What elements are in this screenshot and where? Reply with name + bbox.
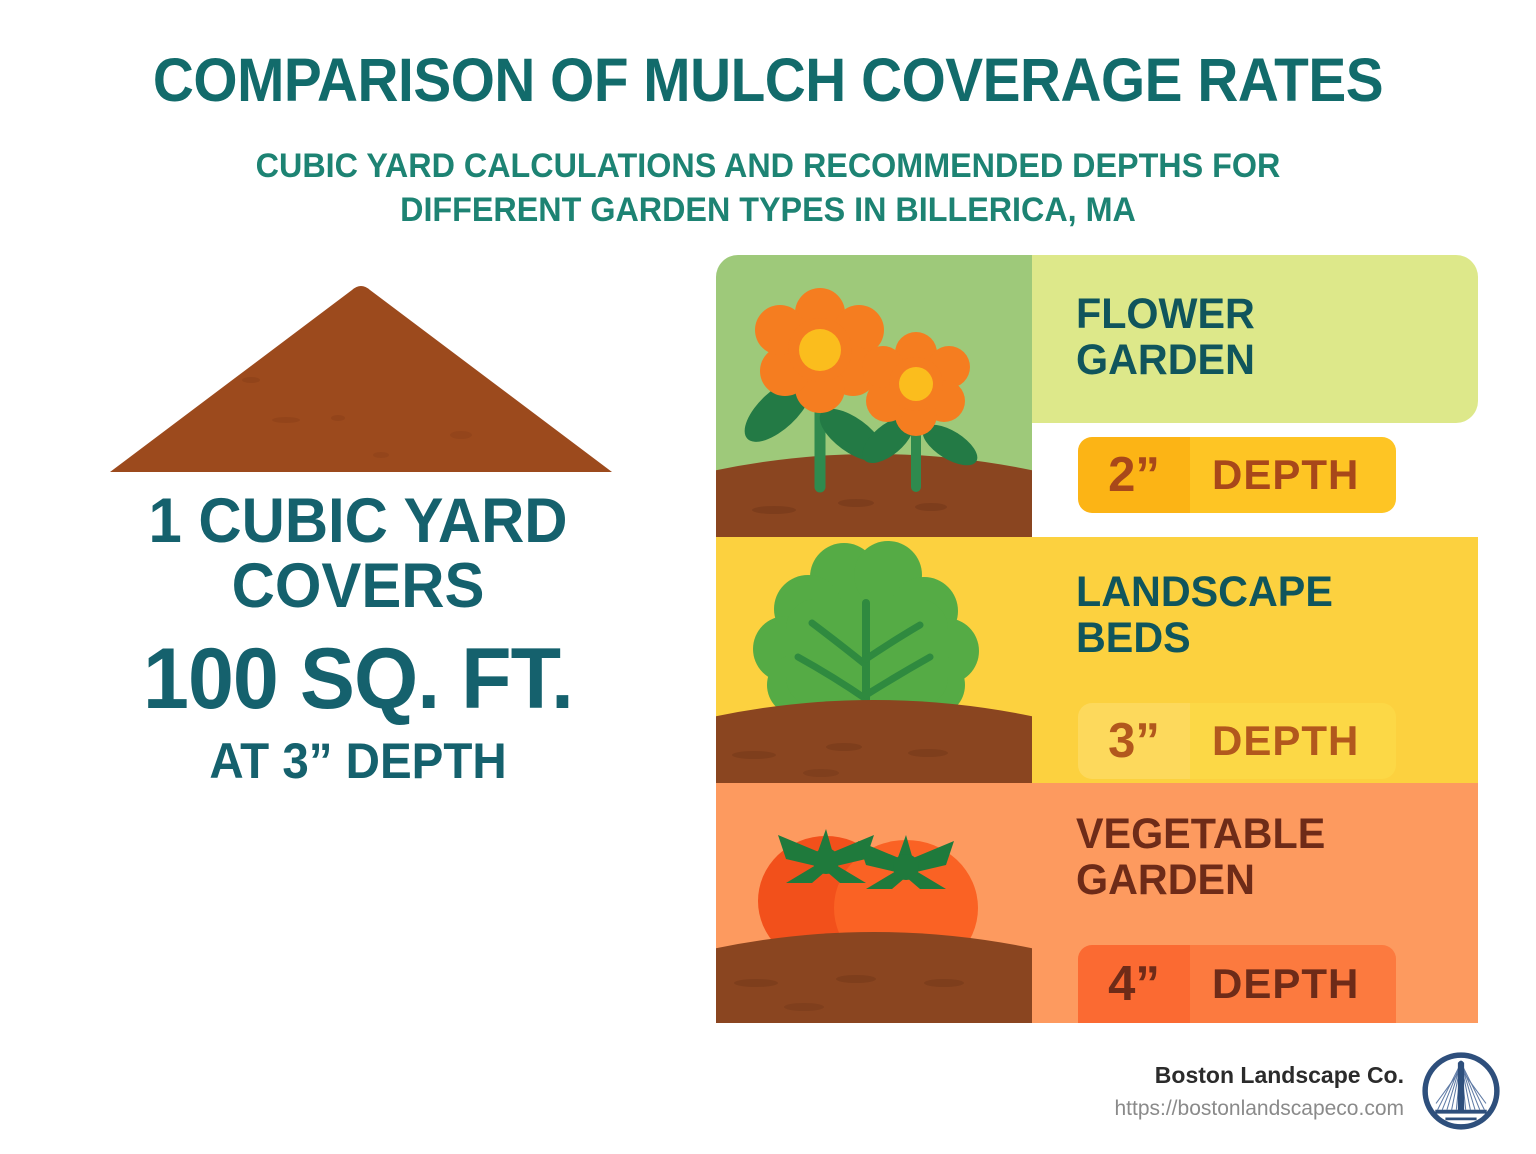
footer-text: Boston Landscape Co. https://bostonlands…	[1114, 1058, 1404, 1124]
depth-word-landscape: DEPTH	[1190, 703, 1396, 779]
card-label-landscape: LANDSCAPE BEDS	[1076, 569, 1333, 662]
depth-word-flower: DEPTH	[1190, 437, 1396, 513]
bridge-logo-icon	[1422, 1052, 1500, 1130]
depth-badge-flower[interactable]: 2” DEPTH	[1078, 437, 1396, 513]
card-flower-garden[interactable]: FLOWER GARDEN 2” DEPTH	[716, 255, 1478, 537]
company-name: Boston Landscape Co.	[1114, 1058, 1404, 1093]
coverage-line-2: COVERS	[18, 552, 698, 621]
tomato-illustration	[716, 783, 1032, 1023]
card-vegetable-garden[interactable]: VEGETABLE GARDEN 4” DEPTH	[716, 783, 1478, 1023]
footer: Boston Landscape Co. https://bostonlands…	[1114, 1052, 1500, 1130]
shrub-illustration	[716, 537, 1032, 783]
coverage-text-block: 1 CUBIC YARD COVERS 100 SQ. FT. AT 3” DE…	[0, 487, 716, 789]
depth-badge-landscape[interactable]: 3” DEPTH	[1078, 703, 1396, 779]
flower-garden-label-panel: FLOWER GARDEN	[1032, 255, 1478, 423]
mulch-pile-icon	[106, 280, 616, 475]
page-title: COMPARISON OF MULCH COVERAGE RATES	[54, 50, 1482, 111]
depth-badge-vegetable[interactable]: 4” DEPTH	[1078, 945, 1396, 1023]
depth-value-flower: 2”	[1078, 437, 1190, 513]
card-label-flower: FLOWER GARDEN	[1076, 291, 1255, 384]
page-subtitle: CUBIC YARD CALCULATIONS AND RECOMMENDED …	[198, 144, 1338, 232]
card-label-vegetable: VEGETABLE GARDEN	[1076, 811, 1325, 904]
flower-garden-illustration	[716, 255, 1032, 537]
header: COMPARISON OF MULCH COVERAGE RATES CUBIC…	[0, 0, 1536, 250]
card-landscape-beds[interactable]: LANDSCAPE BEDS 3” DEPTH	[716, 537, 1478, 783]
depth-word-vegetable: DEPTH	[1190, 945, 1396, 1023]
garden-type-cards: FLOWER GARDEN 2” DEPTH	[716, 255, 1478, 1023]
depth-value-vegetable: 4”	[1078, 945, 1190, 1023]
coverage-summary-panel: 1 CUBIC YARD COVERS 100 SQ. FT. AT 3” DE…	[0, 255, 716, 895]
depth-value-landscape: 3”	[1078, 703, 1190, 779]
coverage-line-1: 1 CUBIC YARD	[18, 487, 698, 556]
coverage-depth-note: AT 3” DEPTH	[18, 734, 698, 789]
company-website[interactable]: https://bostonlandscapeco.com	[1114, 1093, 1404, 1125]
coverage-area-value: 100 SQ. FT.	[14, 634, 701, 724]
